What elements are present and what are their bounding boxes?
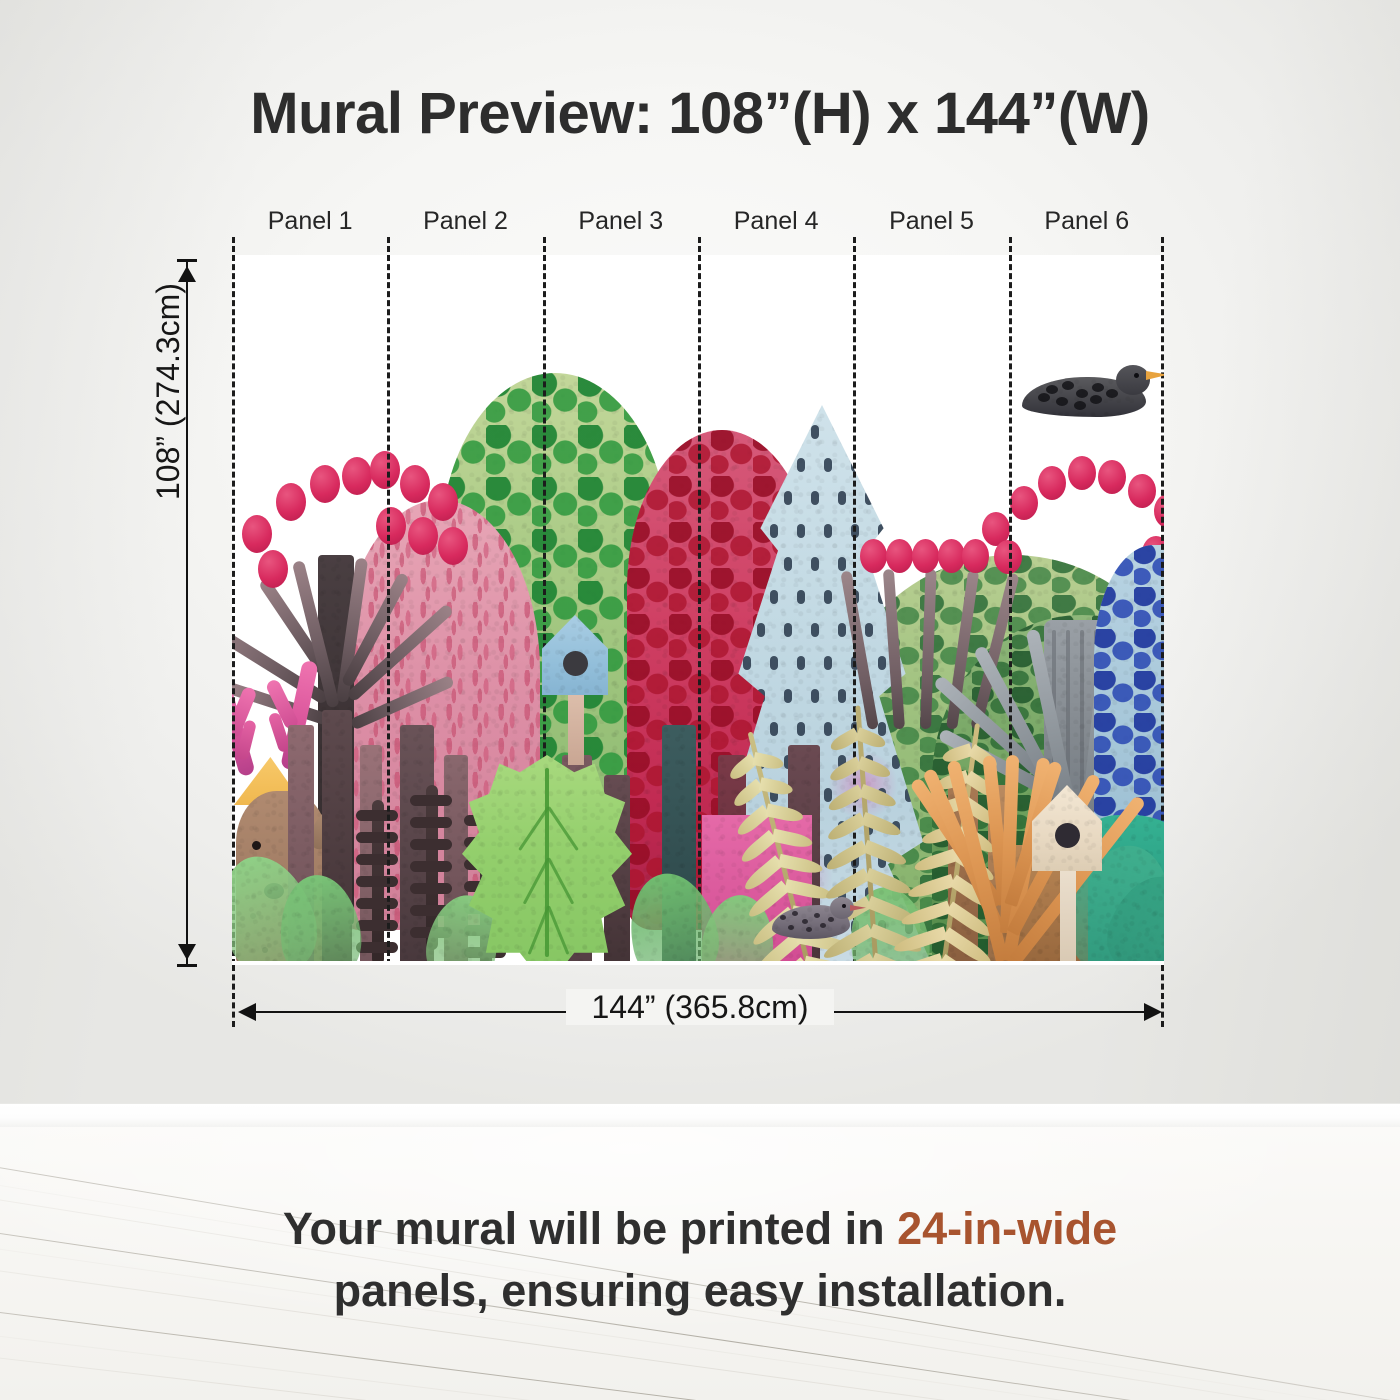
conifer-speckle: [838, 557, 846, 571]
bird-beak: [850, 905, 866, 911]
caption-line2: panels, ensuring easy installation.: [334, 1265, 1067, 1316]
conifer-speckle: [811, 425, 819, 439]
frond-leaflet: [828, 728, 860, 754]
conifer-speckle: [797, 458, 805, 472]
conifer-speckle: [905, 788, 913, 802]
lollipop-bud: [1128, 474, 1156, 508]
lollipop-bud: [886, 539, 913, 573]
blue-birdhouse: [542, 615, 608, 765]
panel-label-4: Panel 4: [699, 207, 854, 236]
page-title: Mural Preview: 108”(H) x 144”(W): [0, 80, 1400, 147]
conifer-speckle: [730, 557, 738, 571]
conifer-speckle: [757, 623, 765, 637]
conifer-speckle: [770, 656, 778, 670]
room-scene: Mural Preview: 108”(H) x 144”(W) 108” (2…: [0, 0, 1400, 1400]
bush-spike: [356, 854, 398, 865]
mural-edge-dashed: [232, 237, 235, 965]
conifer-speckle: [824, 590, 832, 604]
deer-antler: [232, 667, 256, 777]
bird-speckle: [802, 919, 808, 924]
conifer-speckle: [811, 557, 819, 571]
conifer-speckle: [757, 491, 765, 505]
birdhouse-hole: [563, 651, 588, 676]
conifer-speckle: [892, 491, 900, 505]
frond-leaflet: [826, 784, 864, 814]
bush-spike: [356, 898, 398, 909]
panel-label-1: Panel 1: [233, 207, 388, 236]
bush-spike: [356, 942, 398, 953]
lollipop-bud: [438, 527, 468, 565]
lollipop-bud: [370, 451, 400, 489]
lollipop-bud: [994, 540, 1022, 574]
lollipop-bud: [276, 483, 306, 521]
lollipop-bud: [1038, 466, 1066, 500]
conifer-speckle: [757, 689, 765, 703]
bird-speckle: [788, 925, 794, 930]
green-oak-leaf: [462, 755, 632, 965]
conifer-speckle: [824, 656, 832, 670]
bush-spike: [410, 861, 452, 872]
conifer-speckle: [743, 590, 751, 604]
height-dimension-label: 108” (274.3cm): [150, 283, 187, 500]
bird-wing-marking: [1046, 385, 1058, 394]
lollipop-bud: [938, 539, 965, 573]
leaf-vein: [547, 857, 574, 904]
conifer-speckle: [784, 557, 792, 571]
conifer-speckle: [824, 524, 832, 538]
birdhouse-post: [1060, 863, 1076, 965]
bush-spike: [410, 883, 452, 894]
conifer-speckle: [730, 425, 738, 439]
conifer-speckle: [878, 458, 886, 472]
panel-divider-1: [387, 237, 390, 965]
lollipop-bud: [408, 517, 438, 555]
leaf-vein: [547, 905, 569, 954]
width-dimension-label: 144” (365.8cm): [0, 989, 1400, 1026]
birdhouse-post: [568, 687, 584, 765]
caption-line1-prefix: Your mural will be printed in: [283, 1203, 897, 1254]
bird-speckle: [820, 923, 826, 928]
conifer-speckle: [784, 425, 792, 439]
conifer-speckle: [757, 425, 765, 439]
lollipop-bud: [1010, 486, 1038, 520]
conifer-speckle: [811, 623, 819, 637]
conifer-speckle: [797, 590, 805, 604]
conifer-speckle: [838, 425, 846, 439]
conifer-speckle: [730, 491, 738, 505]
bird-wing-marking: [1038, 393, 1050, 402]
bird-wing-marking: [1090, 395, 1102, 404]
panel-label-6: Panel 6: [1009, 207, 1164, 236]
lollipop-bud: [428, 483, 458, 521]
conifer-speckle: [784, 689, 792, 703]
conifer-speckle: [730, 689, 738, 703]
bird-speckle: [806, 927, 812, 932]
bird-head: [1116, 365, 1150, 395]
mural-preview-frame: Panel 1Panel 2Panel 3Panel 4Panel 5Panel…: [232, 255, 1164, 965]
bird-wing-marking: [1074, 401, 1086, 410]
mural-ground-edge: [232, 961, 1164, 965]
conifer-speckle: [770, 524, 778, 538]
conifer-speckle: [892, 425, 900, 439]
conifer-speckle: [784, 623, 792, 637]
conifer-speckle: [757, 557, 765, 571]
lollipop-bud: [342, 457, 372, 495]
conifer-speckle: [838, 689, 846, 703]
bush-spike: [410, 839, 452, 850]
deer-eye: [252, 841, 261, 850]
conifer-speckle: [770, 458, 778, 472]
conifer-speckle: [784, 491, 792, 505]
panel-label-5: Panel 5: [854, 207, 1009, 236]
lollipop-bud: [376, 507, 406, 545]
conifer-speckle: [730, 623, 738, 637]
panel-label-2: Panel 2: [388, 207, 543, 236]
conifer-speckle: [797, 524, 805, 538]
lollipop-bud: [860, 539, 887, 573]
bird-wing-marking: [1076, 389, 1088, 398]
conifer-speckle: [865, 491, 873, 505]
frond-leaflet: [827, 756, 862, 784]
lollipop-stalk: [920, 569, 937, 729]
caption-accent: 24-in-wide: [897, 1203, 1117, 1254]
conifer-speckle: [811, 491, 819, 505]
speckled-bird: [772, 895, 868, 947]
bush-spike: [410, 817, 452, 828]
birdhouse-hole: [1055, 823, 1080, 848]
conifer-speckle: [797, 656, 805, 670]
lollipop-bud: [310, 465, 340, 503]
lollipop-bud: [242, 515, 272, 553]
conifer-speckle: [811, 689, 819, 703]
blackbird: [1022, 363, 1164, 425]
leaf-shape: [462, 755, 632, 965]
conifer-speckle: [797, 722, 805, 736]
conifer-speckle: [838, 491, 846, 505]
leaf-vein: [547, 806, 578, 850]
panel-label-3: Panel 3: [543, 207, 698, 236]
lollipop-bud: [912, 539, 939, 573]
lollipop-bud: [258, 550, 288, 588]
conifer-speckle: [770, 590, 778, 604]
bird-wing-marking: [1062, 381, 1074, 390]
lollipop-bud: [400, 465, 430, 503]
conifer-speckle: [838, 623, 846, 637]
bird-speckle: [792, 911, 798, 916]
bush-spike: [410, 795, 452, 806]
bird-beak: [1146, 371, 1164, 380]
bird-speckle: [814, 913, 820, 918]
spiky-bush: [356, 800, 398, 965]
frond-leaflet: [730, 779, 764, 810]
bird-speckle: [828, 917, 834, 922]
footer-caption: Your mural will be printed in 24-in-wide…: [0, 1198, 1400, 1322]
cream-birdhouse: [1032, 785, 1102, 965]
conifer-speckle: [824, 458, 832, 472]
bird-eye: [842, 904, 846, 908]
frond-leaflet: [825, 812, 866, 843]
bush-spike: [356, 876, 398, 887]
bird-eye: [1134, 373, 1139, 378]
panel-divider-3: [698, 237, 701, 965]
bush-spike: [356, 810, 398, 821]
conifer-speckle: [905, 458, 913, 472]
conifer-speckle: [743, 524, 751, 538]
bird-wing-marking: [1106, 389, 1118, 398]
bird-speckle: [780, 915, 786, 920]
lollipop-bud: [1098, 460, 1126, 494]
bird-wing-marking: [1092, 383, 1104, 392]
baseboard: [0, 1103, 1400, 1127]
conifer-speckle: [743, 458, 751, 472]
bush-spike: [356, 832, 398, 843]
conifer-speckle: [865, 425, 873, 439]
bird-wing-marking: [1056, 397, 1068, 406]
bush-spike: [356, 920, 398, 931]
lollipop-bud: [1068, 456, 1096, 490]
conifer-speckle: [743, 656, 751, 670]
